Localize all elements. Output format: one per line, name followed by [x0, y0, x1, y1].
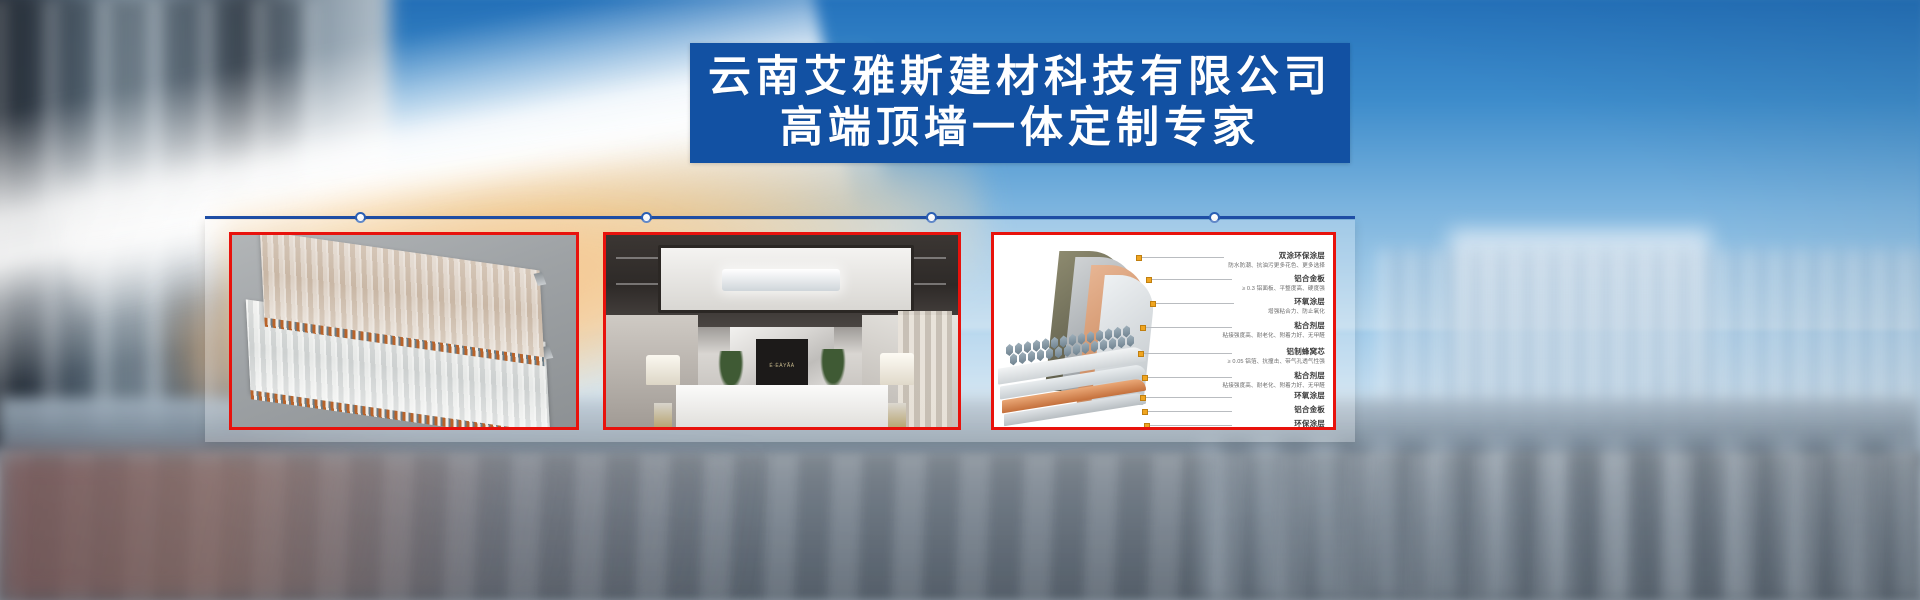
leader-bullet-6: [1142, 375, 1148, 381]
leader-bullet-8: [1142, 409, 1148, 415]
table-lamp-right: [880, 353, 914, 385]
layer-title-5: 铝制蜂窝芯: [1287, 346, 1326, 357]
pedestal-right: [888, 403, 906, 430]
layer-title-2: 铝合金板: [1294, 273, 1325, 284]
reception-logo-text: É·ÈÀYÃÀ: [756, 363, 808, 369]
plant-right: [820, 349, 846, 389]
leader-line-1: [1140, 257, 1224, 258]
ceiling-light: [722, 269, 840, 291]
leader-line-4: [1144, 327, 1232, 328]
layer-title-8: 铝合金板: [1294, 404, 1325, 415]
layer-title-4: 粘合剂层: [1294, 320, 1325, 331]
pedestal-left: [654, 403, 672, 430]
reception-desk: [676, 385, 888, 430]
headline-line-2: 高端顶墙一体定制专家: [780, 103, 1260, 154]
layer-desc-4: 粘接强度高、耐老化、附着力好、无甲醛: [1223, 331, 1326, 339]
leader-bullet-4: [1140, 325, 1146, 331]
headline-line-1: 云南艾雅斯建材科技有限公司: [708, 52, 1332, 103]
layer-title-1: 双涂环保涂层: [1279, 250, 1325, 261]
leader-bullet-2: [1146, 277, 1152, 283]
leader-bullet-1: [1136, 255, 1142, 261]
leader-line-9: [1148, 425, 1232, 426]
layer-title-6: 粘合剂层: [1294, 370, 1325, 381]
table-lamp-left: [646, 355, 680, 385]
layer-diagram-graphic: 双涂环保涂层 防水防潮、抗油污更多花色、更多选择 铝合金板 ≥ 0.3 铝面板、…: [994, 235, 1333, 427]
leader-line-7: [1144, 397, 1232, 398]
leader-bullet-3: [1150, 301, 1156, 307]
layer-desc-3: 增强粘合力、防止氧化: [1268, 307, 1325, 315]
gallery-card-layer-diagram[interactable]: 双涂环保涂层 防水防潮、抗油污更多花色、更多选择 铝合金板 ≥ 0.3 铝面板、…: [991, 232, 1336, 430]
layer-desc-1: 防水防潮、抗油污更多花色、更多选择: [1228, 261, 1325, 269]
headline-plate: 云南艾雅斯建材科技有限公司 高端顶墙一体定制专家: [690, 43, 1350, 163]
leader-line-5: [1142, 353, 1232, 354]
layer-desc-5: ≥ 0.05 铝箔、抗撞击、带气孔透气性强: [1228, 357, 1325, 365]
gallery-strip: É·ÈÀYÃÀ: [205, 220, 1355, 442]
honeycomb-boards-photo: [232, 235, 576, 427]
leader-bullet-9: [1144, 423, 1150, 429]
carousel-indicator-track[interactable]: [205, 216, 1355, 219]
leader-line-6: [1146, 377, 1232, 378]
gallery-card-interior-render[interactable]: É·ÈÀYÃÀ: [603, 232, 961, 430]
layer-desc-6: 粘接强度高、耐老化、附着力好、无甲醛: [1223, 381, 1326, 389]
layer-desc-2: ≥ 0.3 铝面板、平整度高、硬度强: [1242, 284, 1325, 292]
layer-title-7: 环氧涂层: [1294, 390, 1325, 401]
layer-title-9: 环保涂层: [1294, 418, 1325, 429]
layer-title-3: 环氧涂层: [1294, 296, 1325, 307]
leader-line-2: [1150, 279, 1232, 280]
leader-line-3: [1154, 303, 1234, 304]
banner-stage: 云南艾雅斯建材科技有限公司 高端顶墙一体定制专家: [0, 0, 1920, 600]
leader-line-8: [1146, 411, 1232, 412]
leader-bullet-5: [1138, 351, 1144, 357]
leader-bullet-7: [1140, 395, 1146, 401]
gallery-card-honeycomb-boards[interactable]: [229, 232, 579, 430]
interior-render-photo: É·ÈÀYÃÀ: [606, 235, 958, 427]
